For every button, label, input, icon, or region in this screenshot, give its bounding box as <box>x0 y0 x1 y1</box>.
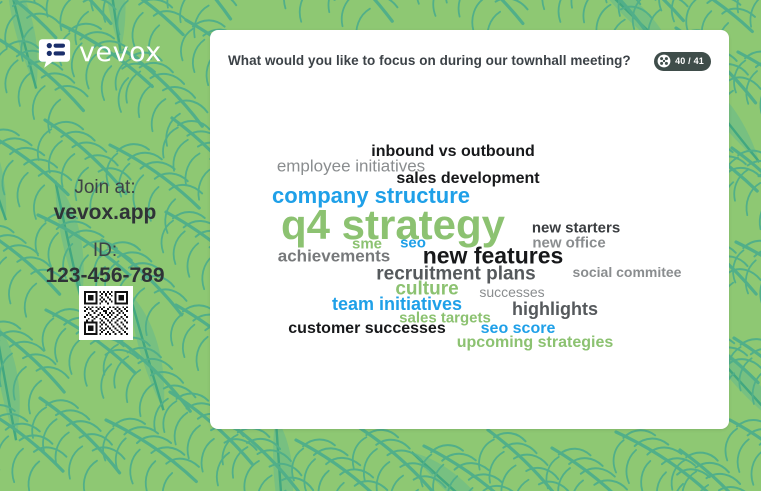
cloud-word: achievements <box>278 248 390 265</box>
word-cloud-card: What would you like to focus on during o… <box>210 30 729 429</box>
participant-count-badge: 40 / 41 <box>654 52 711 71</box>
join-instructions: Join at: vevox.app ID: 123-456-789 <box>0 176 210 289</box>
vevox-brand-lockup: vevox <box>38 36 162 69</box>
brand-wordmark: vevox <box>79 39 162 66</box>
join-url: vevox.app <box>0 200 210 226</box>
question-title: What would you like to focus on during o… <box>228 53 644 69</box>
cloud-word: successes <box>479 285 544 299</box>
qr-code-icon <box>82 289 130 337</box>
cloud-word: upcoming strategies <box>457 335 613 351</box>
participants-icon <box>657 54 671 68</box>
qr-code-panel[interactable] <box>79 286 133 340</box>
participant-count-text: 40 / 41 <box>675 56 704 66</box>
cloud-word: q4 strategy <box>281 204 505 246</box>
join-at-label: Join at: <box>0 176 210 200</box>
word-cloud-canvas: inbound vs outboundemployee initiativess… <box>210 92 729 429</box>
cloud-word: social commitee <box>573 265 682 279</box>
cloud-word: highlights <box>512 300 598 318</box>
speech-bubble-poll-icon <box>38 36 71 69</box>
vevox-word-cloud-screen: vevox Join at: vevox.app ID: 123-456-789 <box>0 0 761 491</box>
cloud-word: new starters <box>532 221 620 236</box>
session-join-rail: vevox Join at: vevox.app ID: 123-456-789 <box>0 0 210 491</box>
join-spacer <box>0 226 210 239</box>
cloud-word: customer successes <box>288 321 445 337</box>
card-header: What would you like to focus on during o… <box>210 30 729 92</box>
session-id-label: ID: <box>0 239 210 263</box>
